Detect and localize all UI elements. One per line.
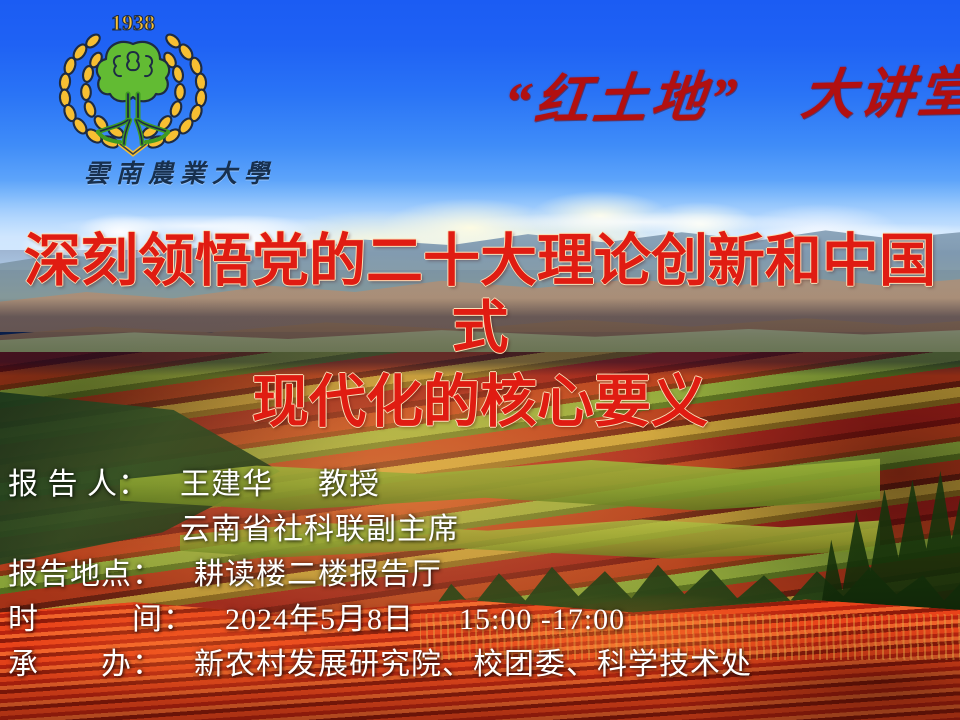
page-title-line-2: 现代化的核心要义 [0, 369, 960, 436]
lecture-poster: 1938 雲南農業大學 “红土地” 大讲堂 深刻领悟党的二十大理论创新和中国式 … [0, 0, 960, 720]
host-label: 承 办： [8, 648, 163, 681]
time-row: 时 间： 2024年5月8日 15:00 -17:00 [8, 597, 960, 642]
series-title-banner: “红土地” 大讲堂 [500, 47, 960, 136]
page-title-line-1: 深刻领悟党的二十大理论创新和中国式 [0, 228, 960, 363]
venue-label: 报告地点： [8, 558, 163, 591]
host-row: 承 办： 新农村发展研究院、校团委、科学技术处 [8, 642, 960, 687]
university-name-zh: 雲南農業大學 [84, 154, 264, 190]
speaker-affiliation: 云南省社科联副主席 [180, 513, 459, 546]
series-title-quoted: “红土地” [501, 67, 744, 132]
host-value: 新农村发展研究院、校团委、科学技术处 [194, 648, 752, 681]
university-logo: 1938 雲南農業大學 [40, 8, 226, 190]
speaker-affiliation-row: 云南省社科联副主席 [8, 507, 960, 552]
lecture-details: 报 告 人： 王建华 教授 云南省社科联副主席 报告地点： 耕读楼二楼报告厅 时… [8, 462, 960, 687]
series-title-suffix: 大讲堂 [799, 62, 960, 126]
time-date: 2024年5月8日 [225, 603, 414, 636]
venue-value: 耕读楼二楼报告厅 [194, 558, 442, 591]
series-title-gap [756, 114, 782, 115]
time-range: 15:00 -17:00 [459, 603, 625, 636]
page-title: 深刻领悟党的二十大理论创新和中国式 现代化的核心要义 [0, 228, 960, 436]
venue-row: 报告地点： 耕读楼二楼报告厅 [8, 552, 960, 597]
time-label: 时 间： [8, 603, 194, 636]
tree-emblem-icon [97, 42, 169, 144]
speaker-name: 王建华 [180, 468, 273, 501]
speaker-label: 报 告 人： [8, 468, 149, 501]
speaker-row: 报 告 人： 王建华 教授 [8, 462, 960, 507]
logo-year: 1938 [111, 10, 155, 35]
speaker-title: 教授 [318, 468, 380, 501]
